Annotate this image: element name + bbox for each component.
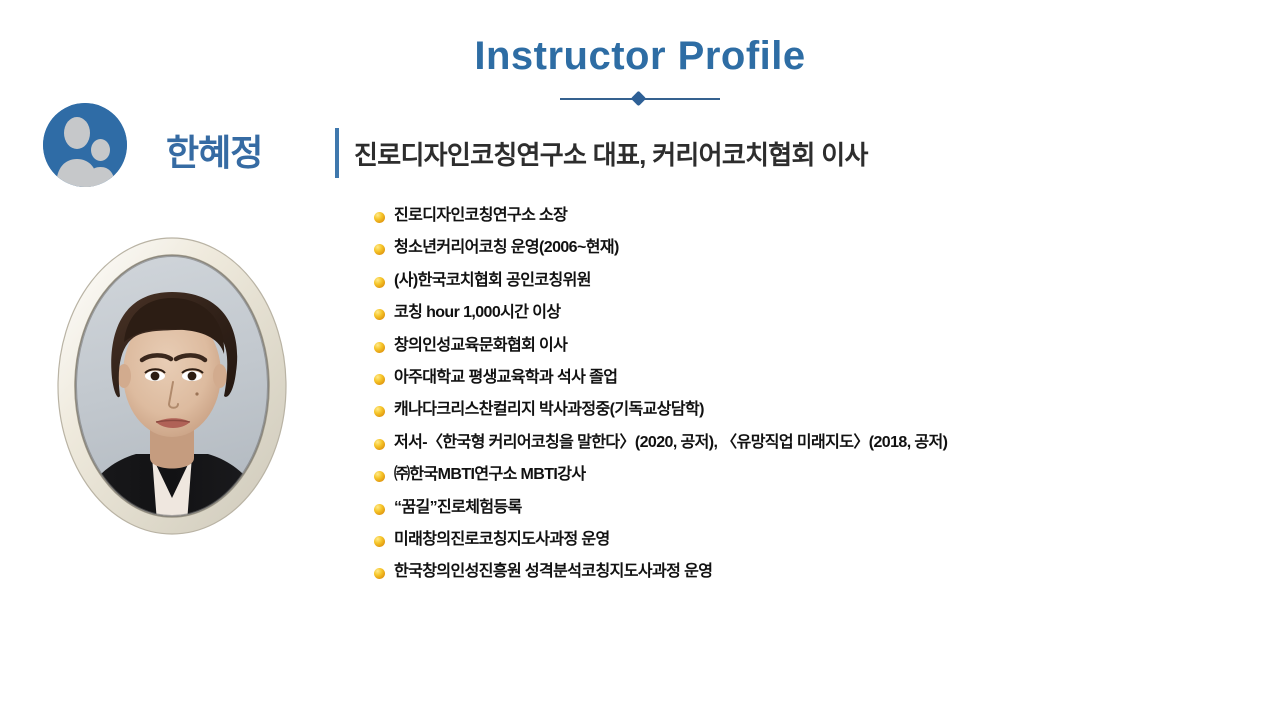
- list-item: ㈜한국MBTI연구소 MBTI강사: [374, 463, 1234, 495]
- list-item-label: 아주대학교 평생교육학과 석사 졸업: [394, 368, 617, 388]
- people-avatar-icon: [43, 103, 127, 187]
- gold-bullet-icon: [374, 309, 385, 320]
- gold-bullet-icon: [374, 439, 385, 450]
- gold-bullet-icon: [374, 212, 385, 223]
- credential-list: 진로디자인코칭연구소 소장 청소년커리어코칭 운영(2006~현재) (사)한국…: [374, 204, 1234, 593]
- gold-bullet-icon: [374, 244, 385, 255]
- diamond-divider-icon: [560, 92, 720, 106]
- gold-bullet-icon: [374, 536, 385, 547]
- list-item: 창의인성교육문화협회 이사: [374, 334, 1234, 366]
- list-item-label: 저서-〈한국형 커리어코칭을 말한다〉(2020, 공저), 〈유망직업 미래지…: [394, 433, 947, 453]
- list-item: 저서-〈한국형 커리어코칭을 말한다〉(2020, 공저), 〈유망직업 미래지…: [374, 431, 1234, 463]
- list-item-label: 창의인성교육문화협회 이사: [394, 336, 567, 356]
- role-accent-bar: [335, 128, 339, 178]
- instructor-name: 한혜정: [166, 124, 262, 176]
- list-item-label: 미래창의진로코칭지도사과정 운영: [394, 530, 610, 550]
- list-item: 한국창의인성진흥원 성격분석코칭지도사과정 운영: [374, 560, 1234, 592]
- gold-bullet-icon: [374, 406, 385, 417]
- list-item-label: 청소년커리어코칭 운영(2006~현재): [394, 238, 619, 258]
- gold-bullet-icon: [374, 568, 385, 579]
- gold-bullet-icon: [374, 277, 385, 288]
- list-item-label: 캐나다크리스찬컬리지 박사과정중(기독교상담학): [394, 400, 704, 420]
- list-item: 아주대학교 평생교육학과 석사 졸업: [374, 366, 1234, 398]
- list-item: 진로디자인코칭연구소 소장: [374, 204, 1234, 236]
- gold-bullet-icon: [374, 374, 385, 385]
- list-item-label: ㈜한국MBTI연구소 MBTI강사: [394, 465, 586, 485]
- list-item: “꿈길”진로체험등록: [374, 496, 1234, 528]
- list-item-label: 코칭 hour 1,000시간 이상: [394, 303, 560, 323]
- list-item-label: “꿈길”진로체험등록: [394, 498, 522, 518]
- list-item: 미래창의진로코칭지도사과정 운영: [374, 528, 1234, 560]
- instructor-profile-slide: Instructor Profile 한혜정 진로디자인코칭연구소 대표, 커리…: [0, 0, 1280, 720]
- list-item: 코칭 hour 1,000시간 이상: [374, 301, 1234, 333]
- list-item-label: 진로디자인코칭연구소 소장: [394, 206, 567, 226]
- slide-header: Instructor Profile: [0, 34, 1280, 106]
- page-title: Instructor Profile: [0, 34, 1280, 78]
- list-item-label: (사)한국코치협회 공인코칭위원: [394, 271, 591, 291]
- list-item: 캐나다크리스찬컬리지 박사과정중(기독교상담학): [374, 398, 1234, 430]
- list-item: 청소년커리어코칭 운영(2006~현재): [374, 236, 1234, 268]
- instructor-role: 진로디자인코칭연구소 대표, 커리어코치협회 이사: [335, 127, 868, 179]
- divider-diamond: [631, 91, 647, 107]
- list-item-label: 한국창의인성진흥원 성격분석코칭지도사과정 운영: [394, 562, 712, 582]
- gold-bullet-icon: [374, 342, 385, 353]
- instructor-portrait-photo: [56, 236, 288, 536]
- gold-bullet-icon: [374, 504, 385, 515]
- gold-bullet-icon: [374, 471, 385, 482]
- role-text: 진로디자인코칭연구소 대표, 커리어코치협회 이사: [354, 135, 868, 172]
- list-item: (사)한국코치협회 공인코칭위원: [374, 269, 1234, 301]
